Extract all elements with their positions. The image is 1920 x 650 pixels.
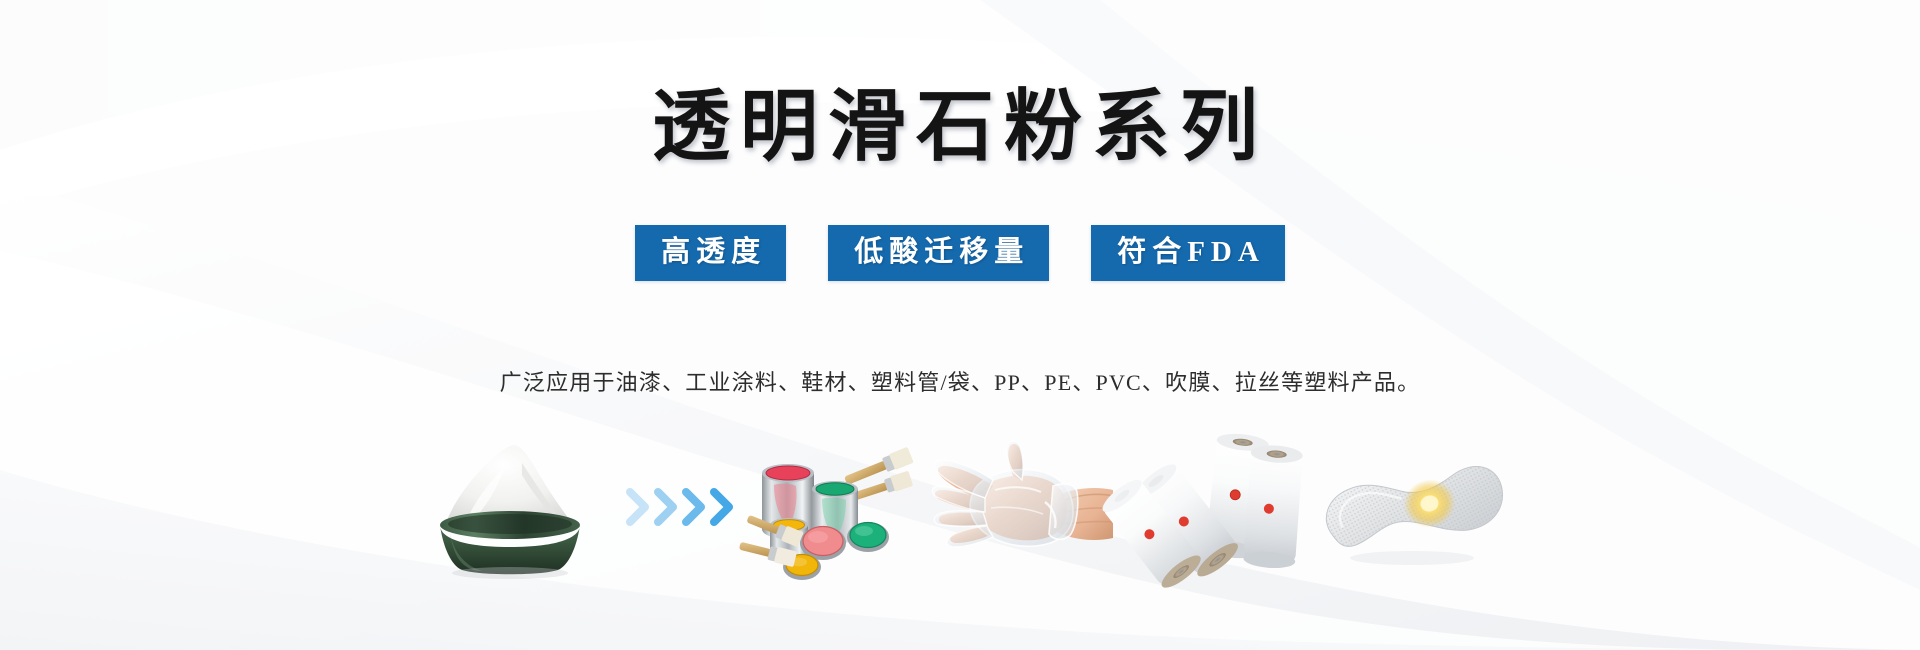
status-badge-fda-compliant: 符合FDA	[1091, 225, 1285, 281]
product-banner: 透明滑石粉系列 高透度 低酸迁移量 符合FDA 广泛应用于油漆、工业涂料、鞋材、…	[0, 0, 1920, 650]
product-shoe-sole	[1305, 432, 1515, 582]
page-title: 透明滑石粉系列	[652, 86, 1268, 168]
talc-powder-bowl-icon	[410, 437, 610, 577]
application-description: 广泛应用于油漆、工业涂料、鞋材、塑料管/袋、PP、PE、PVC、吹膜、拉丝等塑料…	[500, 365, 1421, 397]
product-paint-cans	[745, 432, 930, 582]
status-badge-high-transparency: 高透度	[635, 225, 786, 281]
description-container: 广泛应用于油漆、工业涂料、鞋材、塑料管/袋、PP、PE、PVC、吹膜、拉丝等塑料…	[0, 365, 1920, 397]
product-image-strip	[0, 432, 1920, 582]
product-plastic-glove-hand	[930, 432, 1120, 582]
shoe-sole-icon	[1310, 442, 1510, 572]
product-talc-powder-bowl	[405, 432, 615, 582]
film-rolls-icon	[1125, 437, 1300, 577]
title-container: 透明滑石粉系列	[0, 86, 1920, 168]
feature-badges: 高透度 低酸迁移量 符合FDA	[0, 225, 1920, 281]
product-film-rolls	[1120, 432, 1305, 582]
status-badge-low-acid-migration: 低酸迁移量	[828, 225, 1049, 281]
chevron-right-icon-3	[681, 487, 707, 527]
paint-cans-icon	[750, 437, 925, 577]
chevron-right-icon-2	[653, 487, 679, 527]
process-arrows	[615, 432, 745, 582]
plastic-glove-hand-icon	[935, 442, 1115, 572]
chevron-right-icon-1	[625, 487, 651, 527]
chevron-right-icon-4	[709, 487, 735, 527]
